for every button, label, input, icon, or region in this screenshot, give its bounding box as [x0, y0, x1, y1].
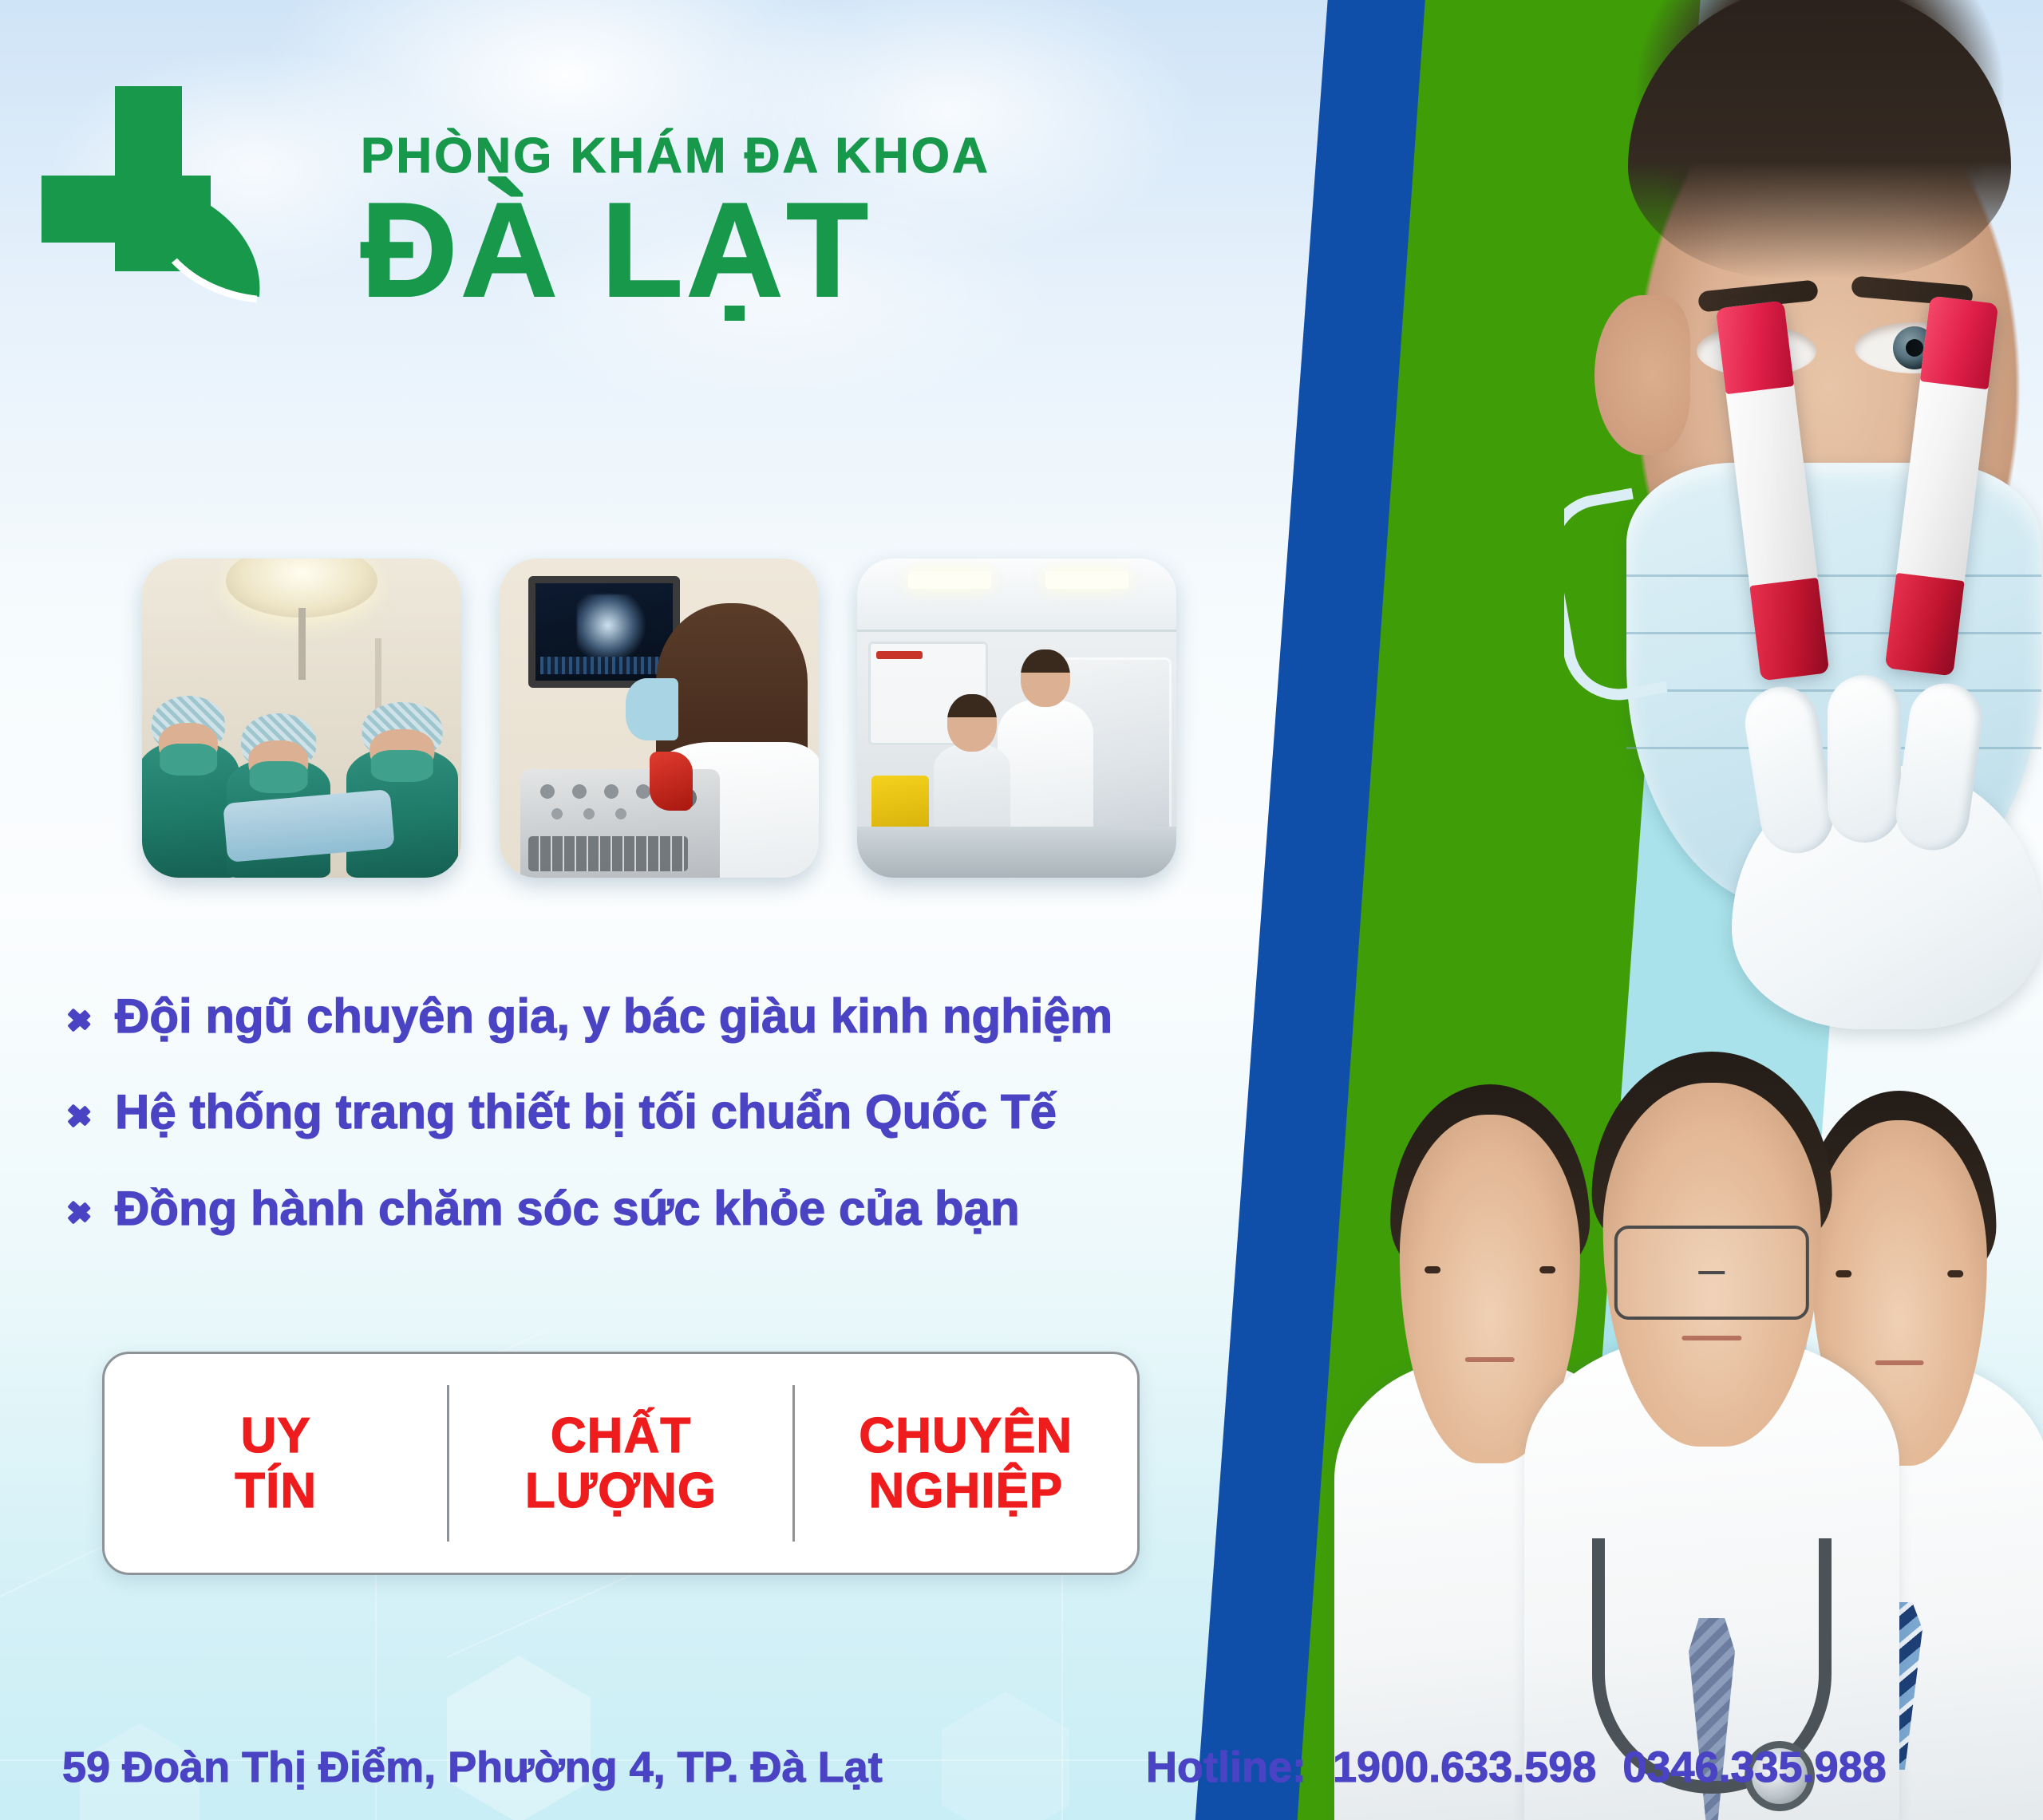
ultrasound-scan-image	[577, 594, 646, 663]
lab-ceiling	[857, 559, 1176, 632]
feature-list: Đội ngũ chuyên gia, y bác giàu kinh nghi…	[69, 989, 1242, 1277]
value-item-uy-tin: UY TÍN	[105, 1408, 447, 1519]
hero-doctor-photo	[1564, 0, 2043, 1181]
feature-text: Đội ngũ chuyên gia, y bác giàu kinh nghi…	[115, 989, 1112, 1044]
surgeon-mask	[250, 761, 308, 793]
red-object	[650, 752, 693, 811]
console-keyboard	[528, 836, 688, 871]
ultrasound-data-strip	[540, 657, 666, 674]
lab-bench	[857, 827, 1176, 878]
hexagon-watermark	[447, 1656, 591, 1820]
hotline-label: Hotline:	[1146, 1743, 1306, 1791]
value-line-2: NGHIỆP	[795, 1463, 1137, 1518]
value-line-1: CHUYÊN	[795, 1408, 1137, 1463]
technician-head	[1021, 649, 1070, 707]
patient-mask	[626, 678, 678, 740]
tube-cap	[1716, 301, 1795, 395]
value-line-1: UY	[105, 1408, 447, 1463]
surgeon-mask	[160, 744, 217, 776]
lab-label	[876, 651, 923, 659]
value-line-2: TÍN	[105, 1463, 447, 1518]
doctor-hair	[1628, 0, 2011, 279]
ceiling-light	[908, 571, 991, 589]
gallery-photo-surgery[interactable]	[142, 559, 461, 878]
gallery-photo-laboratory[interactable]	[857, 559, 1176, 878]
surgeon-mask	[371, 750, 433, 782]
photo-gallery	[142, 559, 1176, 878]
hotline-block: Hotline: 1900.633.598 0346.335.988	[1146, 1743, 1887, 1792]
feature-text: Hệ thống trang thiết bị tối chuẩn Quốc T…	[115, 1085, 1057, 1139]
feature-list-item: Đội ngũ chuyên gia, y bác giàu kinh nghi…	[69, 989, 1242, 1044]
lamp-pole	[298, 608, 306, 680]
feature-text: Đồng hành chăm sóc sức khỏe của bạn	[115, 1182, 1020, 1236]
hotline-number-secondary[interactable]: 0346.335.988	[1622, 1743, 1886, 1791]
mask-pleat	[1626, 632, 2041, 634]
clinic-advertisement-banner: PHÒNG KHÁM ĐA KHOA ĐÀ LẠT	[0, 0, 2043, 1820]
technician-head	[947, 694, 997, 752]
value-line-2: LƯỢNG	[449, 1463, 792, 1518]
hexagon-watermark	[942, 1692, 1069, 1820]
value-item-chuyen-nghiep: CHUYÊN NGHIỆP	[795, 1408, 1137, 1519]
tube-blood	[1749, 578, 1829, 681]
glove-finger	[1828, 675, 1901, 843]
chevron-right-icon	[69, 1093, 94, 1138]
ceiling-light	[1045, 571, 1128, 589]
mask-pleat	[1626, 574, 2041, 577]
clinic-logo	[41, 86, 241, 278]
gallery-photo-ultrasound[interactable]	[500, 559, 819, 878]
feature-list-item: Đồng hành chăm sóc sức khỏe của bạn	[69, 1182, 1242, 1236]
doctor-avatar-male-lead	[1524, 1036, 1899, 1820]
chevron-right-icon	[69, 997, 94, 1042]
feature-list-item: Hệ thống trang thiết bị tối chuẩn Quốc T…	[69, 1085, 1242, 1139]
mouth	[1465, 1357, 1515, 1362]
tube-blood	[1885, 573, 1965, 677]
tube-cap	[1920, 296, 1999, 390]
value-line-1: CHẤT	[449, 1408, 792, 1463]
value-item-chat-luong: CHẤT LƯỢNG	[449, 1408, 792, 1519]
eyeglasses-icon	[1614, 1226, 1809, 1321]
doctor-pupil	[1906, 339, 1923, 357]
brand-name: ĐÀ LẠT	[361, 182, 871, 318]
grid-line	[1061, 1564, 1063, 1820]
value-proposition-box: UY TÍN CHẤT LƯỢNG CHUYÊN NGHIỆP	[102, 1352, 1140, 1575]
hotline-number-primary[interactable]: 1900.633.598	[1333, 1743, 1596, 1791]
mouth	[1681, 1336, 1741, 1340]
doctor-ear	[1594, 295, 1690, 455]
clinic-address: 59 Đoàn Thị Điểm, Phường 4, TP. Đà Lạt	[62, 1743, 883, 1792]
chevron-right-icon	[69, 1190, 94, 1234]
